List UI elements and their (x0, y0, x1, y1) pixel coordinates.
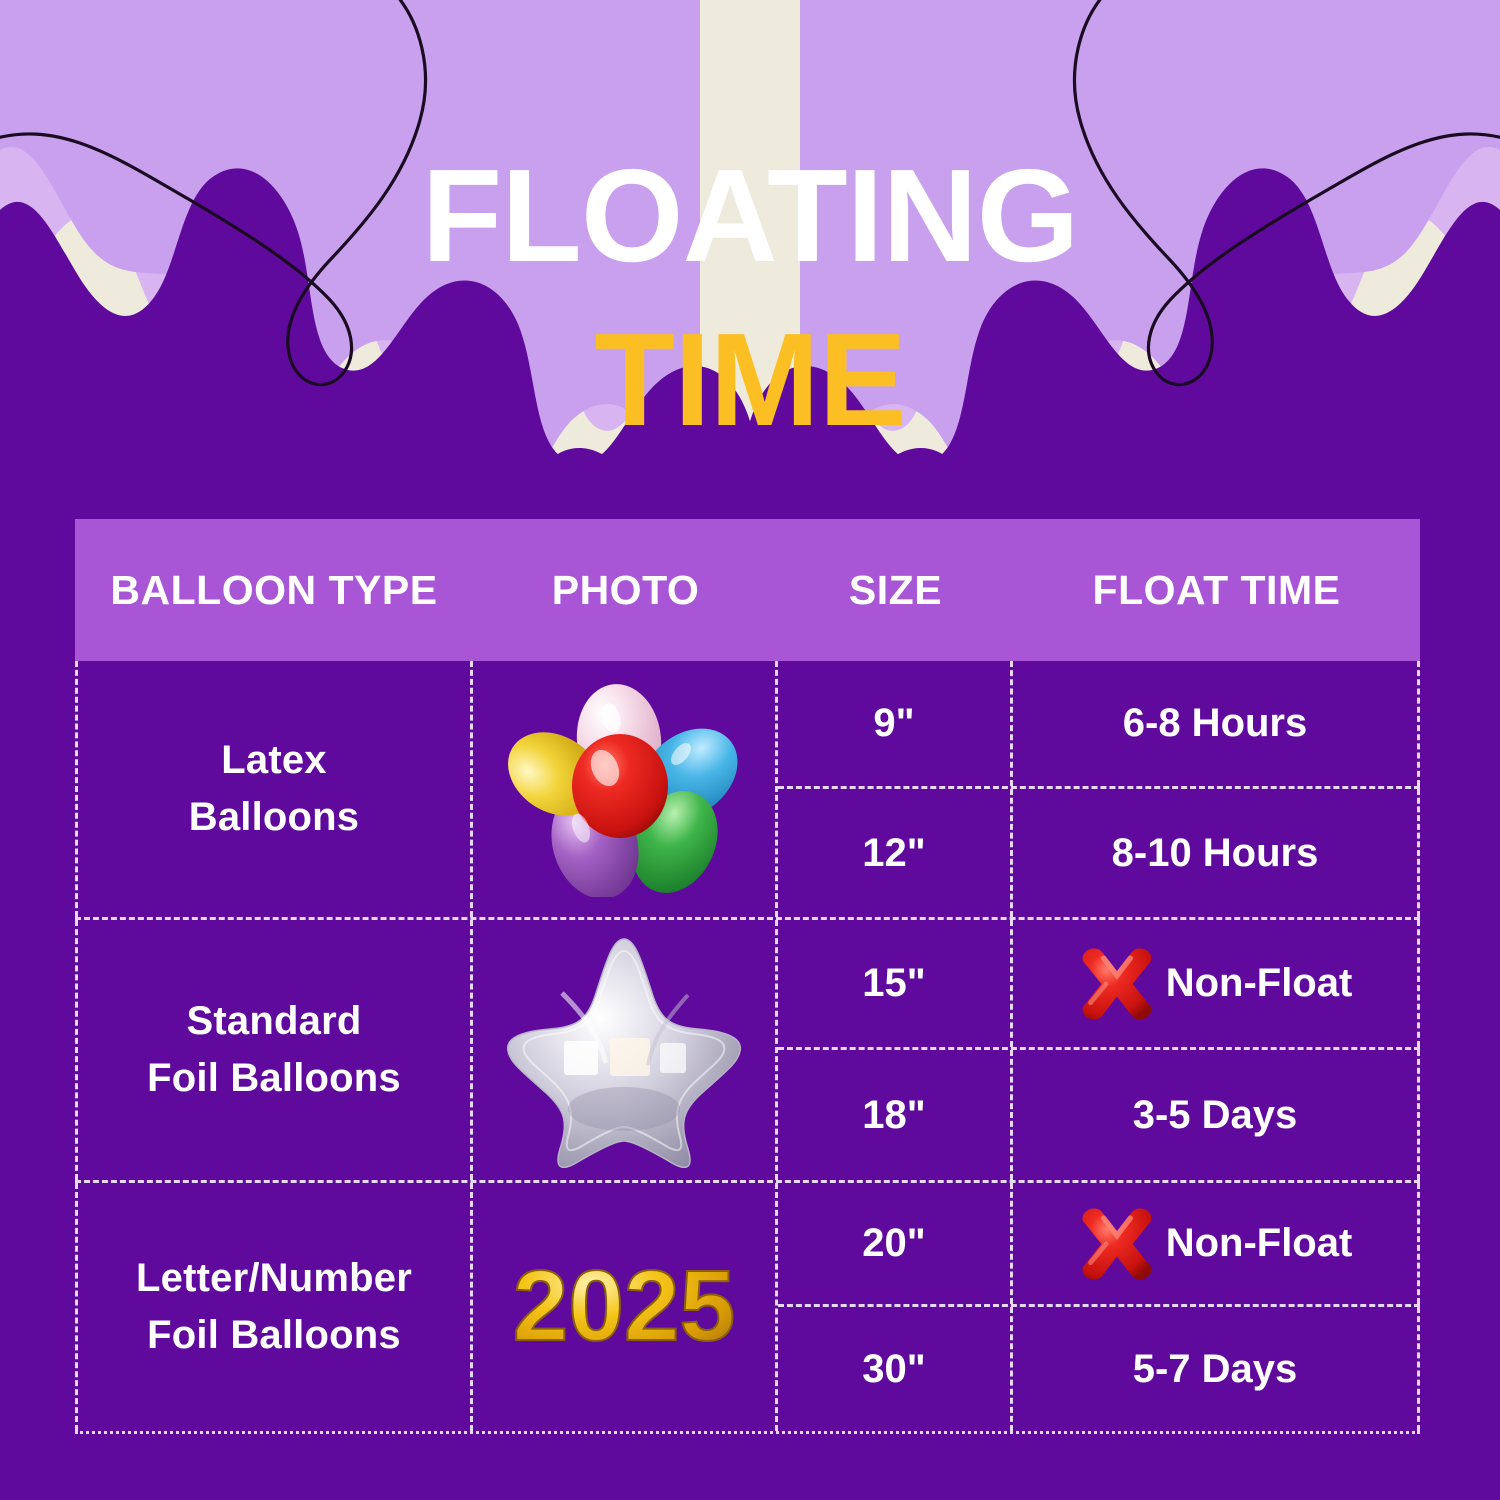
cell-float-time: 8-10 Hours (1013, 789, 1420, 917)
size-float-subrows: 15" Non-Float 18" 3-5 Days (778, 920, 1420, 1180)
size-float-subrow: 15" Non-Float (778, 920, 1420, 1050)
column-header-size: SIZE (778, 567, 1013, 614)
column-header-photo: PHOTO (473, 567, 778, 614)
balloon-type-line-2: Foil Balloons (147, 1056, 401, 1100)
non-float-x-icon (1078, 945, 1156, 1023)
cell-float-time: 6-8 Hours (1013, 661, 1420, 786)
cell-float-time: Non-Float (1013, 1183, 1420, 1304)
cell-photo (473, 920, 778, 1180)
size-float-subrow: 12" 8-10 Hours (778, 789, 1420, 917)
silver-star-foil-balloon-icon (502, 933, 747, 1168)
float-time-label: 3-5 Days (1133, 1093, 1298, 1138)
table-body: Latex Balloons (75, 661, 1420, 1434)
cell-balloon-type: Letter/Number Foil Balloons (75, 1183, 473, 1431)
title-line-time: TIME (0, 314, 1500, 446)
float-time-table: BALLOON TYPE PHOTO SIZE FLOAT TIME Latex… (75, 519, 1420, 1434)
cell-size: 18" (778, 1050, 1013, 1180)
balloon-type-line-2: Foil Balloons (147, 1313, 401, 1357)
balloon-type-line-1: Latex (221, 738, 327, 782)
size-float-subrow: 30" 5-7 Days (778, 1307, 1420, 1431)
column-header-float-time: FLOAT TIME (1013, 567, 1420, 614)
size-float-subrows: 20" Non-Float 30" 5-7 Days (778, 1183, 1420, 1431)
balloon-type-label: Letter/Number Foil Balloons (136, 1250, 412, 1364)
cell-photo: 2025 (473, 1183, 778, 1431)
title-line-floating: FLOATING (0, 150, 1500, 282)
cell-photo (473, 661, 778, 917)
balloon-type-line-1: Standard (187, 999, 362, 1043)
cell-size: 30" (778, 1307, 1013, 1431)
cell-float-time: Non-Float (1013, 920, 1420, 1047)
cell-size: 20" (778, 1183, 1013, 1304)
float-time-label: 5-7 Days (1133, 1347, 1298, 1392)
page-title: FLOATING TIME (0, 150, 1500, 446)
cell-balloon-type: Latex Balloons (75, 661, 473, 917)
gold-number-foil-balloons-2025-icon: 2025 (484, 1252, 764, 1362)
table-row: Letter/Number Foil Balloons 2025 20" (75, 1183, 1420, 1434)
balloon-type-label: Standard Foil Balloons (147, 993, 401, 1107)
balloon-type-line-1: Letter/Number (136, 1256, 412, 1300)
gold-balloon-text: 2025 (513, 1252, 735, 1362)
cell-size: 15" (778, 920, 1013, 1047)
cell-float-time: 3-5 Days (1013, 1050, 1420, 1180)
size-float-subrow: 9" 6-8 Hours (778, 661, 1420, 789)
non-float-x-icon (1078, 1205, 1156, 1283)
cell-size: 12" (778, 789, 1013, 917)
cell-size: 9" (778, 661, 1013, 786)
float-time-label: Non-Float (1166, 1221, 1353, 1266)
size-float-subrow: 18" 3-5 Days (778, 1050, 1420, 1180)
balloon-type-label: Latex Balloons (189, 732, 360, 846)
table-row: Standard Foil Balloons 15" (75, 920, 1420, 1183)
table-row: Latex Balloons (75, 661, 1420, 920)
column-header-balloon-type: BALLOON TYPE (75, 567, 473, 614)
float-time-label: 6-8 Hours (1123, 701, 1308, 746)
table-header-row: BALLOON TYPE PHOTO SIZE FLOAT TIME (75, 519, 1420, 661)
size-float-subrow: 20" Non-Float (778, 1183, 1420, 1307)
latex-balloon-cluster-icon (507, 682, 742, 897)
size-float-subrows: 9" 6-8 Hours 12" 8-10 Hours (778, 661, 1420, 917)
cell-float-time: 5-7 Days (1013, 1307, 1420, 1431)
float-time-label: 8-10 Hours (1112, 831, 1319, 876)
balloon-type-line-2: Balloons (189, 795, 360, 839)
float-time-label: Non-Float (1166, 961, 1353, 1006)
cell-balloon-type: Standard Foil Balloons (75, 920, 473, 1180)
